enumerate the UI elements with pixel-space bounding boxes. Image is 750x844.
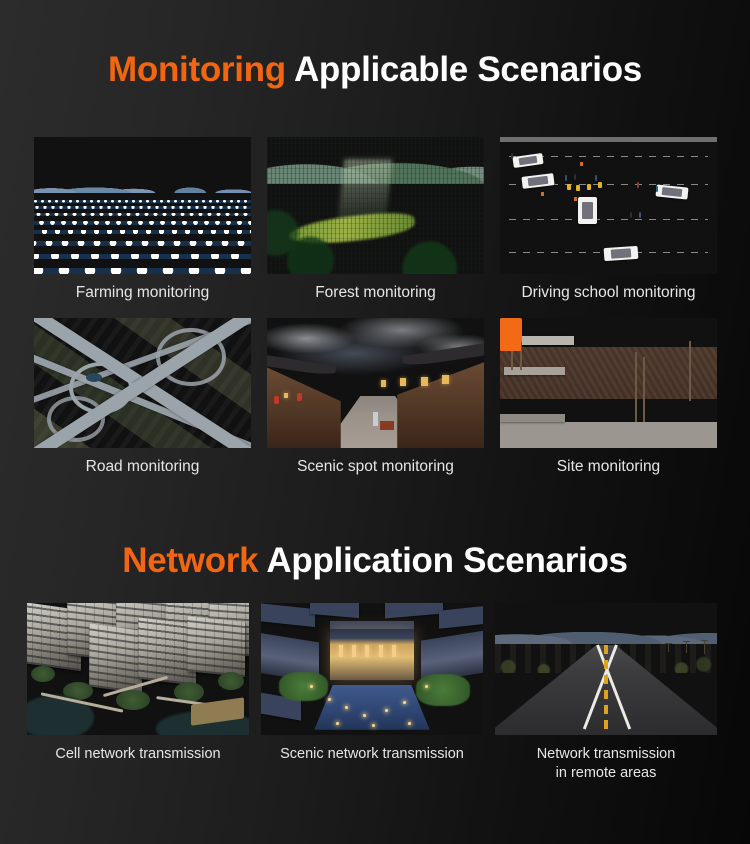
tile-driving-school-monitoring[interactable]: Driving school monitoring (500, 137, 717, 303)
car (578, 197, 597, 224)
heading-accent-text: Network (122, 541, 258, 580)
forest-monitoring-image[interactable] (267, 137, 484, 274)
farming-monitoring-image[interactable] (34, 137, 251, 274)
car (656, 185, 689, 200)
tile-caption-line-2: in remote areas (495, 764, 717, 783)
heading-accent-text: Monitoring (108, 50, 286, 89)
tile-site-monitoring[interactable]: Site monitoring (500, 318, 717, 477)
section-heading-monitoring: Monitoring Applicable Scenarios (0, 50, 750, 90)
ramp-loop (69, 362, 133, 414)
tile-caption: Farming monitoring (34, 274, 251, 303)
tile-forest-monitoring[interactable]: Forest monitoring (267, 137, 484, 303)
foreground-canopy (267, 137, 484, 274)
scenic-spot-monitoring-image[interactable] (267, 318, 484, 448)
tile-caption-line-1: Network transmission (495, 745, 717, 764)
monitoring-grid-row-2: Road monitoring Scenic spot monitoring (34, 318, 718, 477)
tile-caption: Scenic network transmission (261, 735, 483, 764)
heading-rest-text: Applicable Scenarios (286, 50, 642, 89)
cell-network-transmission-image[interactable] (27, 603, 249, 735)
monitoring-grid-row-1: Farming monitoring Forest monitoring (34, 137, 718, 303)
tile-caption: Site monitoring (500, 448, 717, 477)
center-line (604, 645, 608, 735)
scenic-network-transmission-image[interactable] (261, 603, 483, 735)
tile-caption: Cell network transmission (27, 735, 249, 764)
section-heading-network: Network Application Scenarios (0, 541, 750, 581)
tile-scenic-network-transmission[interactable]: Scenic network transmission (261, 603, 483, 782)
remote-network-transmission-image[interactable] (495, 603, 717, 735)
car (604, 245, 639, 260)
tile-caption: Forest monitoring (267, 274, 484, 303)
buoy-field (34, 197, 251, 274)
driving-school-monitoring-image[interactable] (500, 137, 717, 274)
road-monitoring-image[interactable] (34, 318, 251, 448)
tile-remote-network-transmission[interactable]: Network transmission in remote areas (495, 603, 717, 782)
car (521, 173, 554, 189)
tile-scenic-spot-monitoring[interactable]: Scenic spot monitoring (267, 318, 484, 477)
tile-caption: Network transmission in remote areas (495, 735, 717, 782)
car (512, 153, 543, 168)
site-monitoring-image[interactable] (500, 318, 717, 448)
tile-caption: Road monitoring (34, 448, 251, 477)
distant-hills (34, 186, 251, 193)
reflecting-pool (314, 685, 429, 730)
pond (86, 373, 102, 382)
heading-rest-text: Application Scenarios (258, 541, 627, 580)
tile-caption: Scenic spot monitoring (267, 448, 484, 477)
tile-caption: Driving school monitoring (500, 274, 717, 303)
tile-cell-network-transmission[interactable]: Cell network transmission (27, 603, 249, 782)
tile-farming-monitoring[interactable]: Farming monitoring (34, 137, 251, 303)
network-grid-row-1: Cell network transmission (27, 603, 718, 782)
tile-road-monitoring[interactable]: Road monitoring (34, 318, 251, 477)
